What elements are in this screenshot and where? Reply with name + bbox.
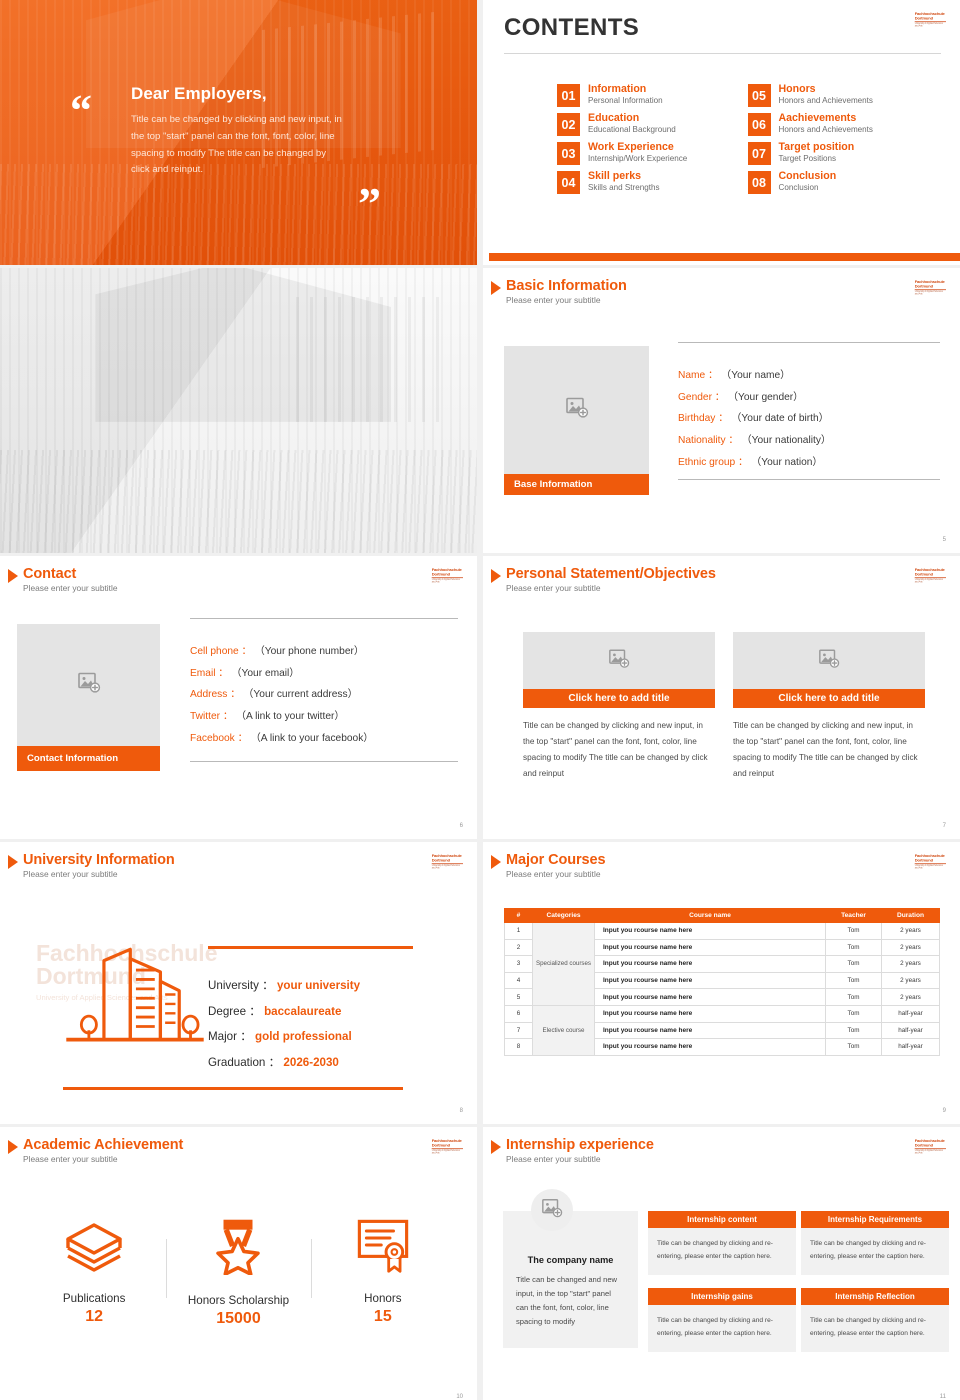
cell-course-name[interactable]: Input you rcourse name here	[595, 1022, 826, 1039]
field-value[interactable]: 2026-2030	[283, 1056, 338, 1069]
card-caption-bar[interactable]: Click here to add title	[733, 689, 925, 708]
page-subtitle: Please enter your subtitle	[23, 1154, 183, 1164]
company-panel: The company name Title can be changed an…	[503, 1211, 638, 1348]
slide-contents[interactable]: CONTENTS Fachhochschule Dortmund Univers…	[483, 0, 960, 265]
university-logo: Fachhochschule Dortmund University of Ap…	[915, 568, 946, 584]
cell-duration: half-year	[882, 1039, 940, 1056]
accent-bar	[489, 253, 960, 261]
slide-deck: “ ” Dear Employers, Title can be changed…	[0, 0, 960, 1400]
toc-item-02[interactable]: 02 Education Educational Background	[557, 113, 742, 136]
cell-header: Internship Reflection	[801, 1288, 949, 1305]
field-value[interactable]: （A link to your facebook）	[251, 733, 374, 744]
logo-line-2: Dortmund	[432, 858, 463, 862]
field-ethnic-group: Ethnic group ： （Your nation）	[678, 452, 940, 474]
cell-category: Elective course	[533, 1005, 595, 1055]
cell-teacher: Tom	[826, 1039, 882, 1056]
cell-duration: 2 years	[882, 923, 940, 940]
cell-duration: 2 years	[882, 939, 940, 956]
logo-line-3: University of Applied Sciences and Arts	[915, 23, 946, 28]
toc-item-07[interactable]: 07 Target position Target Positions	[748, 142, 933, 165]
logo-line-3: University of Applied Sciences and Arts	[915, 1150, 946, 1155]
logo-line-3: University of Applied Sciences and Arts	[432, 865, 463, 870]
divider-bottom	[63, 1087, 403, 1090]
field-label: Cell phone ：	[190, 646, 252, 657]
cell-category: Specialized courses	[533, 923, 595, 1006]
section-windows	[296, 297, 439, 422]
slide-header: Academic Achievement Please enter your s…	[8, 1137, 183, 1164]
university-logo: Fachhochschule Dortmund University of Ap…	[432, 1139, 463, 1155]
cell-course-name[interactable]: Input you rcourse name here	[595, 1005, 826, 1022]
toc-number: 05	[748, 84, 771, 107]
photo-placeholder[interactable]	[504, 346, 649, 474]
field-value[interactable]: （Your nationality）	[741, 435, 831, 446]
triangle-right-icon	[491, 855, 501, 869]
field-label: Gender ：	[678, 392, 725, 403]
page-title: Major Courses	[506, 852, 605, 868]
field-email: Email ： （Your email）	[190, 663, 458, 685]
field-value[interactable]: your university	[277, 979, 360, 992]
field-value[interactable]: （Your name）	[721, 370, 790, 381]
stat-label: Publications	[28, 1292, 160, 1305]
photo-caption-bar[interactable]: Contact Information	[17, 746, 160, 771]
cell-index: 6	[505, 1005, 533, 1022]
slide-header: Major Courses Please enter your subtitle	[491, 852, 605, 879]
slide-internship-experience[interactable]: Internship experience Please enter your …	[483, 1127, 960, 1400]
triangle-right-icon	[8, 1140, 18, 1154]
page-number: 8	[460, 1108, 463, 1114]
table-header-row: # Categories Course name Teacher Duratio…	[505, 909, 940, 923]
triangle-right-icon	[491, 281, 501, 295]
field-birthday: Birthday ： （Your date of birth）	[678, 408, 940, 430]
cover-body-text: Title can be changed by clicking and new…	[131, 112, 346, 179]
company-name: The company name	[516, 1255, 625, 1265]
field-label: Major ：	[208, 1030, 252, 1043]
field-degree: Degree ： baccalaureate	[208, 999, 413, 1025]
card-body-text: Title can be changed by clicking and new…	[733, 718, 925, 782]
toc-title: Skill perks	[588, 171, 660, 183]
cell-body: Title can be changed by clicking and re-…	[648, 1305, 796, 1352]
image-placeholder-icon	[818, 647, 840, 674]
card-caption-bar[interactable]: Click here to add title	[523, 689, 715, 708]
logo-line-3: University of Applied Sciences and Arts	[915, 865, 946, 870]
books-icon	[62, 1260, 126, 1277]
toc-subtitle: Conclusion	[779, 183, 837, 194]
cell-teacher: Tom	[826, 989, 882, 1006]
cell-course-name[interactable]: Input you rcourse name here	[595, 923, 826, 940]
toc-title: Education	[588, 113, 676, 125]
table-row[interactable]: 6 Elective course Input you rcourse name…	[505, 1005, 940, 1022]
field-twitter: Twitter ： （A link to your twitter）	[190, 706, 458, 728]
cell-index: 8	[505, 1039, 533, 1056]
stat-value: 15	[317, 1308, 449, 1326]
cell-index: 2	[505, 939, 533, 956]
field-label: Birthday ：	[678, 413, 728, 424]
toc-title: Conclusion	[779, 171, 837, 183]
image-placeholder-icon	[565, 396, 589, 425]
field-label: Facebook ：	[190, 733, 248, 744]
page-subtitle: Please enter your subtitle	[506, 1154, 654, 1164]
toc-number: 06	[748, 113, 771, 136]
field-value[interactable]: baccalaureate	[264, 1005, 341, 1018]
cell-course-name[interactable]: Input you rcourse name here	[595, 939, 826, 956]
logo-line-3: University of Applied Sciences and Arts	[915, 579, 946, 584]
logo-line-2: Dortmund	[915, 284, 946, 288]
company-description: Title can be changed and new input, in t…	[516, 1273, 625, 1329]
internship-cell-reflection[interactable]: Internship Reflection Title can be chang…	[801, 1288, 949, 1352]
toc-subtitle: Educational Background	[588, 125, 676, 136]
field-label: Twitter ：	[190, 711, 233, 722]
slide-major-courses[interactable]: Major Courses Please enter your subtitle…	[483, 842, 960, 1124]
image-placeholder-icon	[77, 671, 101, 700]
page-title: Personal Statement/Objectives	[506, 566, 716, 582]
field-gender: Gender ： （Your gender）	[678, 387, 940, 409]
internship-cell-content[interactable]: Internship content Title can be changed …	[648, 1211, 796, 1275]
photo-caption-bar[interactable]: Base Information	[504, 474, 649, 495]
field-label: Email ：	[190, 668, 229, 679]
field-value[interactable]: gold professional	[255, 1030, 352, 1043]
field-nationality: Nationality ： （Your nationality）	[678, 430, 940, 452]
toc-title: Honors	[779, 84, 873, 96]
slide-contact[interactable]: Contact Please enter your subtitle Fachh…	[0, 556, 477, 839]
slide-header: Internship experience Please enter your …	[491, 1137, 654, 1164]
internship-cell-gains[interactable]: Internship gains Title can be changed by…	[648, 1288, 796, 1352]
field-name: Name ： （Your name）	[678, 365, 940, 387]
slide-cover[interactable]: “ ” Dear Employers, Title can be changed…	[0, 0, 477, 265]
cell-course-name[interactable]: Input you rcourse name here	[595, 1039, 826, 1056]
stat-value: 12	[28, 1308, 160, 1326]
page-number: 9	[943, 1108, 946, 1114]
logo-line-3: University of Applied Sciences and Arts	[432, 579, 463, 584]
toc-number: 04	[557, 171, 580, 194]
cover-title: Dear Employers,	[131, 84, 346, 104]
toc-title: Work Experience	[588, 142, 687, 154]
statement-card-2[interactable]: Click here to add title Title can be cha…	[733, 632, 925, 782]
triangle-right-icon	[491, 569, 501, 583]
cell-teacher: Tom	[826, 1022, 882, 1039]
toc-number: 07	[748, 142, 771, 165]
university-logo: Fachhochschule Dortmund University of Ap…	[915, 12, 946, 28]
cell-course-name[interactable]: Input you rcourse name here	[595, 956, 826, 973]
divider	[504, 53, 941, 54]
slide-basic-information[interactable]: Basic Information Please enter your subt…	[483, 268, 960, 553]
page-number: 5	[943, 537, 946, 543]
cell-teacher: Tom	[826, 972, 882, 989]
logo-line-2: Dortmund	[915, 858, 946, 862]
cell-body: Title can be changed by clicking and re-…	[801, 1305, 949, 1352]
slide-university-information[interactable]: University Information Please enter your…	[0, 842, 477, 1124]
university-logo: Fachhochschule Dortmund University of Ap…	[915, 854, 946, 870]
logo-line-2: Dortmund	[915, 16, 946, 20]
achievement-stats-row: Publications 12 Honors Scholarship 15000…	[22, 1217, 455, 1328]
cell-index: 7	[505, 1022, 533, 1039]
page-subtitle: Please enter your subtitle	[506, 869, 605, 879]
stat-publications[interactable]: Publications 12	[22, 1217, 166, 1328]
cell-header: Internship gains	[648, 1288, 796, 1305]
slide-header: University Information Please enter your…	[8, 852, 175, 879]
cell-teacher: Tom	[826, 956, 882, 973]
col-categories: Categories	[533, 909, 595, 923]
university-logo: Fachhochschule Dortmund University of Ap…	[915, 1139, 946, 1155]
cell-duration: 2 years	[882, 989, 940, 1006]
col-index: #	[505, 909, 533, 923]
logo-line-2: Dortmund	[915, 572, 946, 576]
field-value[interactable]: （A link to your twitter）	[236, 711, 345, 722]
toc-title: Target position	[779, 142, 855, 154]
cell-index: 1	[505, 923, 533, 940]
field-value[interactable]: （Your current address）	[243, 689, 358, 700]
field-value[interactable]: （Your date of birth）	[731, 413, 829, 424]
field-label: University ：	[208, 979, 274, 992]
toc-item-04[interactable]: 04 Skill perks Skills and Strengths	[557, 171, 742, 194]
field-label: Graduation ：	[208, 1056, 280, 1069]
field-label: Address ：	[190, 689, 240, 700]
page-subtitle: Please enter your subtitle	[506, 583, 716, 593]
page-subtitle: Please enter your subtitle	[23, 583, 118, 593]
cell-duration: half-year	[882, 1005, 940, 1022]
page-title: University Information	[23, 852, 175, 868]
stat-honors-scholarship[interactable]: Honors Scholarship 15000	[166, 1217, 310, 1328]
field-label: Degree ：	[208, 1005, 261, 1018]
page-number: 10	[456, 1394, 463, 1400]
stat-label: Honors Scholarship	[172, 1294, 304, 1307]
field-major: Major ： gold professional	[208, 1024, 413, 1050]
company-photo-placeholder[interactable]	[531, 1189, 573, 1231]
page-number: 6	[460, 823, 463, 829]
page-number: 7	[943, 823, 946, 829]
medal-icon	[209, 1262, 267, 1279]
field-label: Ethnic group ：	[678, 457, 748, 468]
table-row[interactable]: 1 Specialized courses Input you rcourse …	[505, 923, 940, 940]
cell-duration: half-year	[882, 1022, 940, 1039]
cell-course-name[interactable]: Input you rcourse name here	[595, 989, 826, 1006]
cell-duration: 2 years	[882, 956, 940, 973]
image-placeholder-icon	[541, 1197, 563, 1224]
page-title: Internship experience	[506, 1137, 654, 1153]
slide-header: Personal Statement/Objectives Please ent…	[491, 566, 716, 593]
slide-academic-achievement[interactable]: Academic Achievement Please enter your s…	[0, 1127, 477, 1400]
section-railing	[0, 450, 477, 553]
cell-body: Title can be changed by clicking and re-…	[801, 1228, 949, 1275]
slide-header: Basic Information Please enter your subt…	[491, 278, 627, 305]
toc-subtitle: Skills and Strengths	[588, 183, 660, 194]
photo-placeholder[interactable]	[523, 632, 715, 689]
cell-header: Internship content	[648, 1211, 796, 1228]
contact-field-list: Cell phone ： （Your phone number） Email ：…	[190, 618, 458, 762]
university-field-list: University ： your university Degree ： ba…	[208, 946, 413, 1090]
cell-header: Internship Requirements	[801, 1211, 949, 1228]
triangle-right-icon	[8, 569, 18, 583]
page-title: CONTENTS	[504, 14, 639, 42]
page-subtitle: Please enter your subtitle	[506, 295, 627, 305]
field-university: University ： your university	[208, 973, 413, 999]
university-logo: Fachhochschule Dortmund University of Ap…	[915, 280, 946, 296]
card-body-text: Title can be changed by clicking and new…	[523, 718, 715, 782]
triangle-right-icon	[491, 1140, 501, 1154]
statement-card-1[interactable]: Click here to add title Title can be cha…	[523, 632, 715, 782]
cell-teacher: Tom	[826, 1005, 882, 1022]
logo-line-2: Dortmund	[915, 1143, 946, 1147]
logo-line-2: Dortmund	[432, 572, 463, 576]
certificate-icon	[355, 1260, 411, 1277]
courses-table: # Categories Course name Teacher Duratio…	[504, 908, 940, 1056]
page-title: Academic Achievement	[23, 1137, 183, 1153]
page-subtitle: Please enter your subtitle	[23, 869, 175, 879]
cell-index: 5	[505, 989, 533, 1006]
toc-subtitle: Personal Information	[588, 96, 663, 107]
col-teacher: Teacher	[826, 909, 882, 923]
toc-number: 03	[557, 142, 580, 165]
stat-label: Honors	[317, 1292, 449, 1305]
building-icon	[55, 937, 215, 1057]
field-value[interactable]: （Your nation）	[751, 457, 823, 468]
col-duration: Duration	[882, 909, 940, 923]
toc-item-06[interactable]: 06 Aachievements Honors and Achievements	[748, 113, 933, 136]
cell-index: 4	[505, 972, 533, 989]
toc-title: Aachievements	[779, 113, 873, 125]
university-logo: Fachhochschule Dortmund University of Ap…	[432, 568, 463, 584]
field-cell-phone: Cell phone ： （Your phone number）	[190, 641, 458, 663]
cell-teacher: Tom	[826, 939, 882, 956]
quote-open-icon: “	[70, 96, 90, 127]
slide-section-divider[interactable]: Personal Information Personal Informatio…	[0, 268, 477, 553]
stat-honors[interactable]: Honors 15	[311, 1217, 455, 1328]
field-facebook: Facebook ： （A link to your facebook）	[190, 728, 458, 750]
image-placeholder-icon	[608, 647, 630, 674]
logo-line-3: University of Applied Sciences and Arts	[915, 291, 946, 296]
page-title: Contact	[23, 566, 118, 582]
page-title: Basic Information	[506, 278, 627, 294]
field-address: Address ： （Your current address）	[190, 684, 458, 706]
field-label: Nationality ：	[678, 435, 739, 446]
logo-line-2: Dortmund	[432, 1143, 463, 1147]
toc-number: 01	[557, 84, 580, 107]
logo-line-3: University of Applied Sciences and Arts	[432, 1150, 463, 1155]
toc-grid: 01 Information Personal Information 05 H…	[557, 84, 932, 194]
field-label: Name ：	[678, 370, 718, 381]
quote-close-icon: ”	[358, 188, 379, 220]
toc-item-05[interactable]: 05 Honors Honors and Achievements	[748, 84, 933, 107]
stat-value: 15000	[172, 1310, 304, 1328]
info-field-list: Name ： （Your name） Gender ： （Your gender…	[678, 342, 940, 480]
cell-teacher: Tom	[826, 923, 882, 940]
photo-placeholder[interactable]	[17, 624, 160, 746]
toc-subtitle: Honors and Achievements	[779, 96, 873, 107]
cell-index: 3	[505, 956, 533, 973]
cell-body: Title can be changed by clicking and re-…	[648, 1228, 796, 1275]
toc-item-01[interactable]: 01 Information Personal Information	[557, 84, 742, 107]
page-number: 11	[940, 1394, 946, 1400]
divider-bottom	[190, 761, 458, 762]
toc-item-03[interactable]: 03 Work Experience Internship/Work Exper…	[557, 142, 742, 165]
slide-header: Contact Please enter your subtitle	[8, 566, 118, 593]
toc-number: 02	[557, 113, 580, 136]
toc-subtitle: Internship/Work Experience	[588, 154, 687, 165]
toc-subtitle: Target Positions	[779, 154, 855, 165]
field-graduation: Graduation ： 2026-2030	[208, 1050, 413, 1076]
col-course: Course name	[595, 909, 826, 923]
field-value[interactable]: （Your gender）	[728, 392, 804, 403]
toc-title: Information	[588, 84, 663, 96]
slide-personal-statement[interactable]: Personal Statement/Objectives Please ent…	[483, 556, 960, 839]
photo-placeholder[interactable]	[733, 632, 925, 689]
cover-text-block: Dear Employers, Title can be changed by …	[131, 84, 346, 179]
cell-duration: 2 years	[882, 972, 940, 989]
field-value[interactable]: （Your email）	[231, 668, 299, 679]
toc-item-08[interactable]: 08 Conclusion Conclusion	[748, 171, 933, 194]
field-value[interactable]: （Your phone number）	[255, 646, 365, 657]
internship-cell-requirements[interactable]: Internship Requirements Title can be cha…	[801, 1211, 949, 1275]
toc-number: 08	[748, 171, 771, 194]
cell-course-name[interactable]: Input you rcourse name here	[595, 972, 826, 989]
toc-subtitle: Honors and Achievements	[779, 125, 873, 136]
university-logo: Fachhochschule Dortmund University of Ap…	[432, 854, 463, 870]
divider-bottom	[678, 479, 940, 480]
triangle-right-icon	[8, 855, 18, 869]
